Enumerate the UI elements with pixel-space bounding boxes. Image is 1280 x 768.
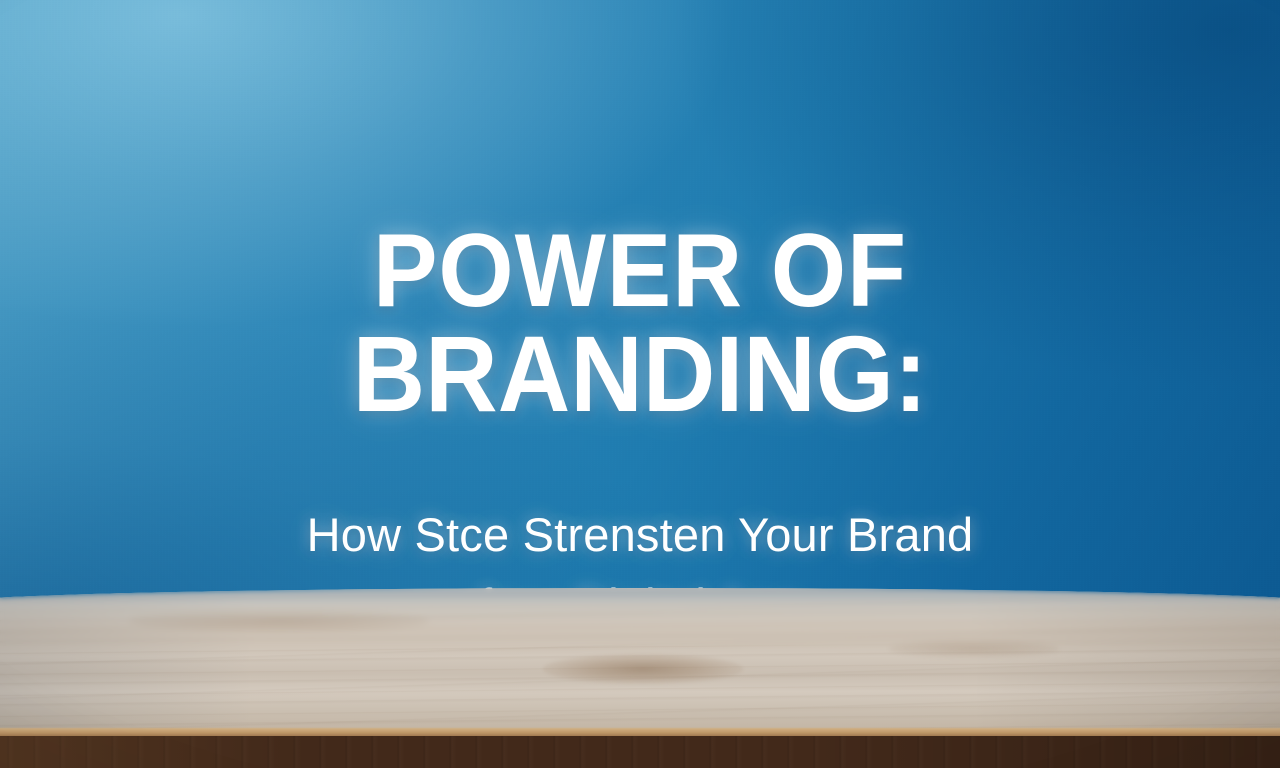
subtitle-line-1: How Stce Strensten Your Brand (0, 500, 1280, 571)
headline-line-1: POWER OF (45, 222, 1235, 322)
title-graphic-canvas: POWER OF BRANDING: How Stce Strensten Yo… (0, 0, 1280, 768)
wooden-table (0, 588, 1280, 768)
headline-block: POWER OF BRANDING: (0, 222, 1280, 426)
table-front-edge-vignette (0, 736, 1280, 768)
headline-line-2: BRANDING: (45, 322, 1235, 426)
table-depth-blur (0, 588, 1280, 646)
